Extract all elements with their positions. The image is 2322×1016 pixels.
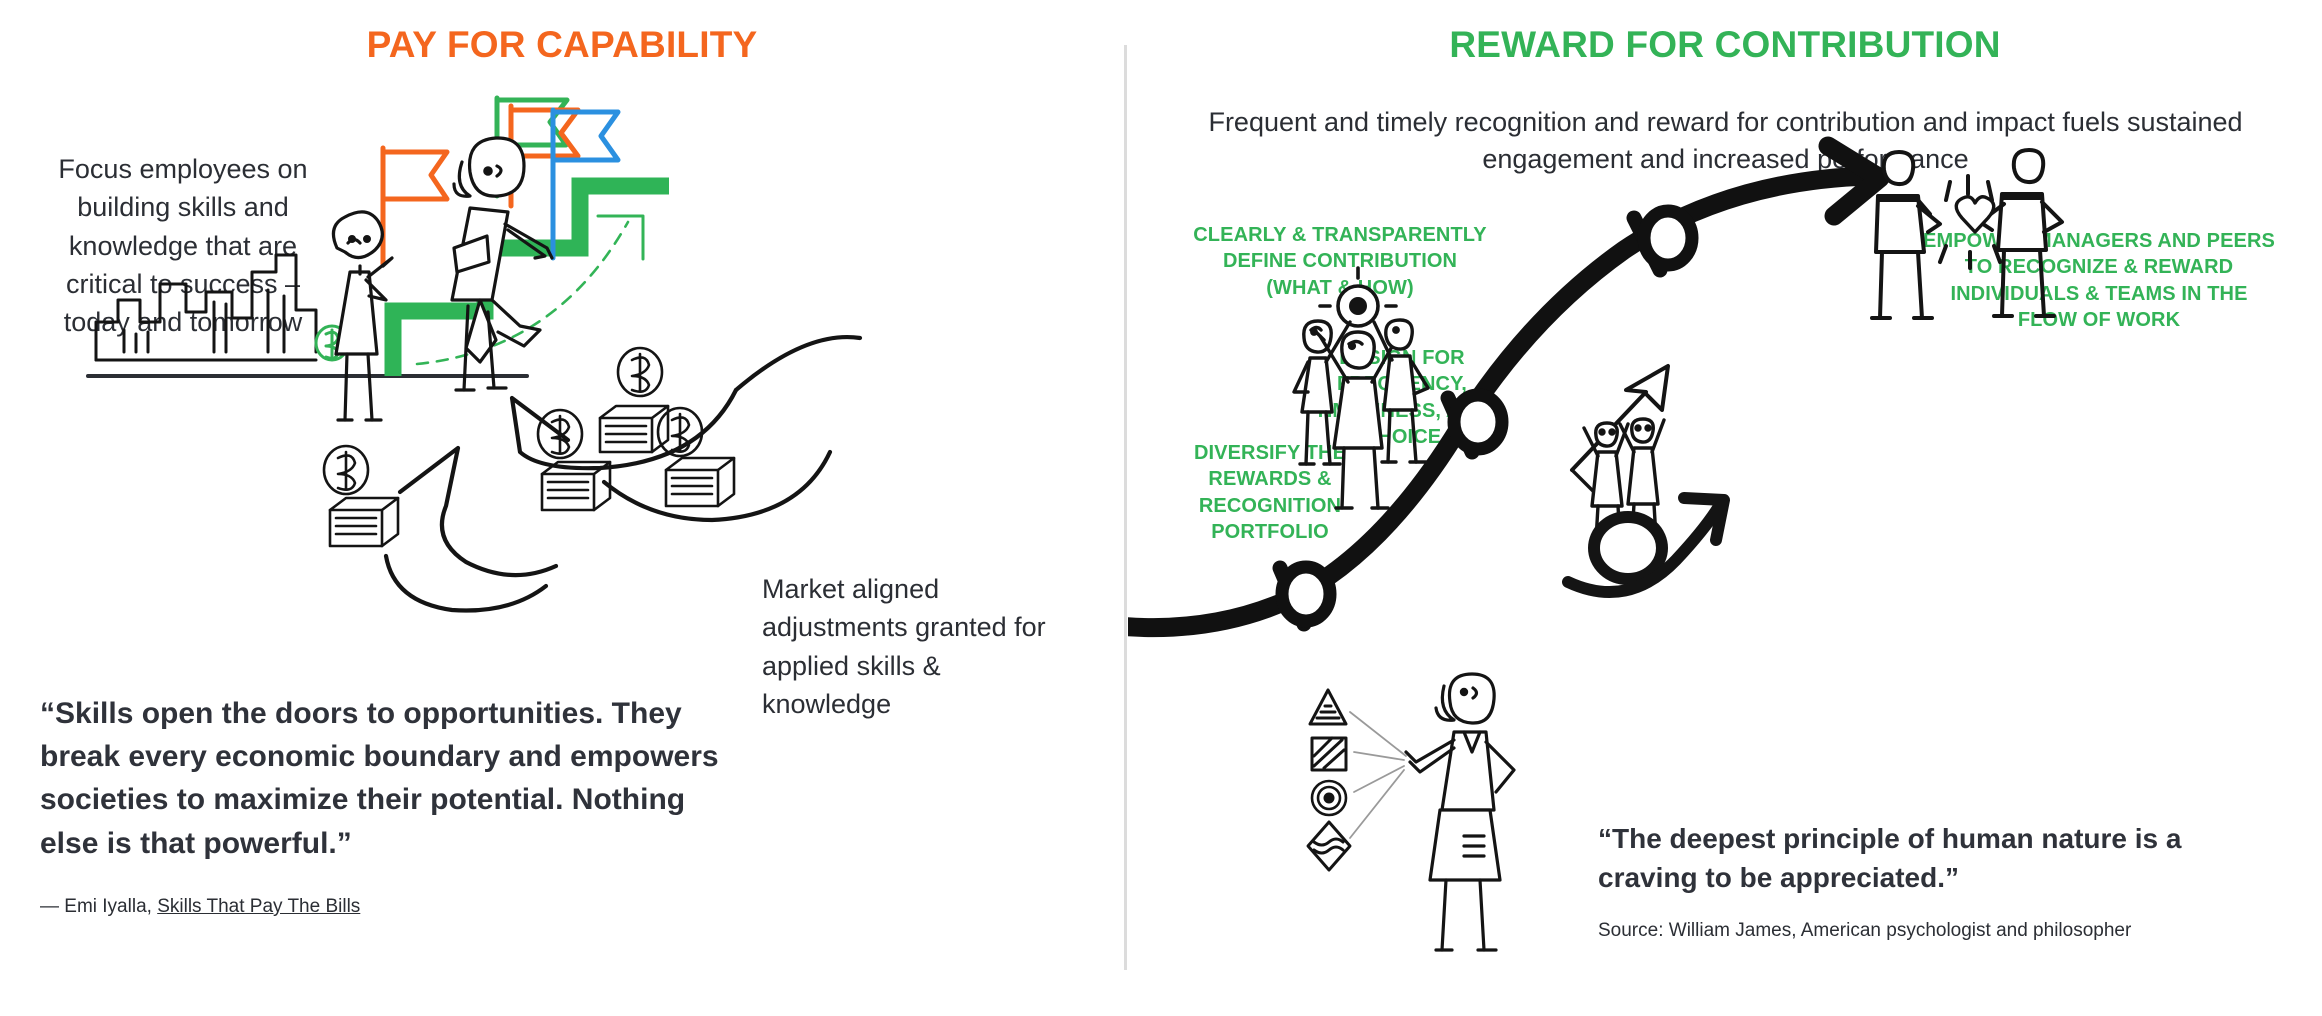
reward-option-diamond-icon (1308, 822, 1350, 870)
step-label-diversify-line-1: DIVERSIFY THE (1150, 440, 1390, 466)
step-label-empower: EMPOWER MANAGERS AND PEERS TO RECOGNIZE … (1894, 228, 2304, 334)
step-label-define-line-1: CLEARLY & TRANSPARENTLY (1180, 222, 1500, 248)
step-label-define-line-3: (WHAT & HOW) (1180, 275, 1500, 301)
lifting-trophy-figures (1568, 366, 1724, 592)
panel-divider (1124, 45, 1127, 970)
step-label-diversify-line-2: REWARDS & (1150, 466, 1390, 492)
step-label-design-line-3: TIMELINESS, AND (1272, 398, 1532, 424)
step-label-design: DESIGN FOR FREQUENCY, TIMELINESS, AND CH… (1272, 345, 1532, 451)
step-label-define: CLEARLY & TRANSPARENTLY DEFINE CONTRIBUT… (1180, 222, 1500, 301)
step-label-diversify-line-3: RECOGNITION (1150, 493, 1390, 519)
step-label-diversify-line-4: PORTFOLIO (1150, 519, 1390, 545)
right-quote: “The deepest principle of human nature i… (1598, 820, 2278, 897)
left-panel: PAY FOR CAPABILITY Focus employees on bu… (0, 0, 1124, 1016)
stick-figure-climbing-with-flags (452, 98, 618, 390)
green-staircase (393, 186, 669, 376)
step-label-design-line-1: DESIGN FOR (1272, 345, 1532, 371)
attribution-author: — Emi Iyalla, (40, 896, 157, 917)
step-label-empower-line-1: EMPOWER MANAGERS AND PEERS (1894, 228, 2304, 254)
right-panel: REWARD FOR CONTRIBUTION Frequent and tim… (1128, 0, 2322, 1016)
right-quote-source: Source: William James, American psycholo… (1598, 920, 2131, 942)
step-label-define-line-2: DEFINE CONTRIBUTION (1180, 248, 1500, 274)
step-label-empower-line-4: FLOW OF WORK (1894, 307, 2304, 333)
money-stack-icon (324, 348, 734, 546)
right-panel-subtitle: Frequent and timely recognition and rewa… (1173, 104, 2278, 179)
step-label-diversify: DIVERSIFY THE REWARDS & RECOGNITION PORT… (1150, 440, 1390, 546)
reward-option-triangle-icon (1310, 690, 1346, 724)
market-aligned-caption: Market aligned adjustments granted for a… (762, 570, 1062, 723)
step-label-empower-line-3: INDIVIDUALS & TEAMS IN THE (1894, 281, 2304, 307)
reward-option-target-icon (1312, 781, 1346, 815)
stick-figure-with-orange-flag (333, 148, 447, 420)
woman-presenting-reward-options (1308, 674, 1514, 950)
left-intro-text: Focus employees on building skills and k… (48, 150, 318, 342)
left-quote-attribution: — Emi Iyalla, Skills That Pay The Bills (40, 896, 360, 918)
left-panel-title: PAY FOR CAPABILITY (0, 26, 1124, 65)
green-dashed-trend-arrow (417, 222, 628, 364)
dollar-coin-icon (316, 326, 348, 360)
right-panel-title: REWARD FOR CONTRIBUTION (1128, 26, 2322, 65)
attribution-work-title: Skills That Pay The Bills (157, 896, 360, 917)
reward-option-square-icon (1312, 738, 1346, 770)
left-quote: “Skills open the doors to opportunities.… (40, 692, 740, 865)
green-trend-arrowhead (598, 216, 643, 259)
step-label-empower-line-2: TO RECOGNIZE & REWARD (1894, 254, 2304, 280)
slide-canvas: PAY FOR CAPABILITY Focus employees on bu… (0, 0, 2322, 1016)
heart-icon (1956, 197, 1994, 232)
step-label-design-line-2: FREQUENCY, (1272, 371, 1532, 397)
